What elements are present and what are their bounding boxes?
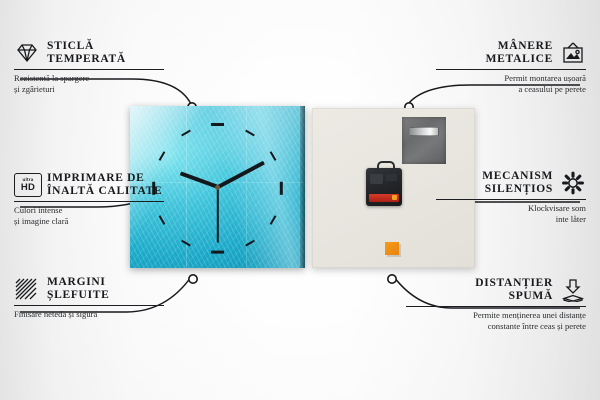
callout-sub-line2: a ceasului pe perete [436,84,586,95]
picture-hanger-icon [560,41,586,65]
clock-center-hub [215,185,220,190]
foam-spacer [385,242,399,255]
clock-hour-mark [211,251,224,254]
marker-margini [189,275,197,283]
clock-second-hand [217,187,219,243]
callout-rule [406,306,586,307]
callout-title-line2: SPUMĂ [475,290,553,303]
clock-mechanism [366,168,402,206]
callout-sub-line1: Culori intense [14,205,164,216]
callout-sub-line2: și zgârieturi [14,84,164,95]
callout-sub-line1: Finisare netedă și sigură [14,309,164,320]
marker-distantier [388,275,396,283]
callout-mecanism-silentios: MECANISM SILENȚIOS Klockvisare som inte … [436,170,586,225]
mechanism-body-detail [370,174,383,184]
panel-right-edge [300,106,305,268]
clock-hour-mark [280,182,283,195]
battery [369,194,399,202]
callout-rule [14,201,164,202]
callout-distantier-spuma: DISTANȚIER SPUMĂ Permite menținerea unei… [406,277,586,332]
callout-title-line1: STICLĂ [47,40,126,53]
callout-title-line1: MARGINI [47,276,109,289]
callout-title-line2: ȘLEFUITE [47,289,109,302]
callout-title-line2: SILENȚIOS [482,183,553,196]
callout-sub-line1: Permite menținerea unei distanțe [406,310,586,321]
callout-title-line2: METALICE [486,53,553,66]
gear-icon [560,171,586,195]
callout-margini-slefuite: MARGINI ȘLEFUITE Finisare netedă și sigu… [14,276,164,320]
callout-title-line1: MECANISM [482,170,553,183]
ultra-hd-badge-icon: ultra HD [14,173,40,197]
polished-edge-hatch-icon [14,277,40,301]
callout-sub-line2: constante între ceas și perete [406,321,586,332]
callout-rule [14,69,164,70]
callout-sub-line1: Rezistentă la spargere [14,73,164,84]
callout-sub-line2: inte låter [436,214,586,225]
mechanism-body-detail [386,174,397,181]
metal-hanger-plate [402,117,446,164]
infographic-canvas: STICLĂ TEMPERATĂ Rezistentă la spargere … [0,0,600,400]
diamond-icon [14,41,40,65]
callout-title-line1: IMPRIMARE DE [47,172,162,185]
callout-title-line2: ÎNALTĂ CALITATE [47,185,162,198]
callout-sub-line2: și imagine clară [14,216,164,227]
arrow-down-into-pad-icon [560,278,586,302]
callout-rule [14,305,164,306]
product-image [130,106,475,274]
callout-rule [436,69,586,70]
hanger-slot [409,127,439,136]
clock-hour-mark [211,123,224,126]
badge-main-label: HD [21,183,35,193]
callout-sticla-temperata: STICLĂ TEMPERATĂ Rezistentă la spargere … [14,40,164,95]
callout-rule [436,199,586,200]
callout-manere-metalice: MÂNERE METALICE Permit montarea ușoară a… [436,40,586,95]
callout-title-line1: DISTANȚIER [475,277,553,290]
callout-sub-line1: Permit montarea ușoară [436,73,586,84]
callout-sub-line1: Klockvisare som [436,203,586,214]
mechanism-hanging-loop [377,161,395,172]
callout-title-line1: MÂNERE [486,40,553,53]
callout-title-line2: TEMPERATĂ [47,53,126,66]
callout-imprimare-hd: ultra HD IMPRIMARE DE ÎNALTĂ CALITATE Cu… [14,172,164,227]
